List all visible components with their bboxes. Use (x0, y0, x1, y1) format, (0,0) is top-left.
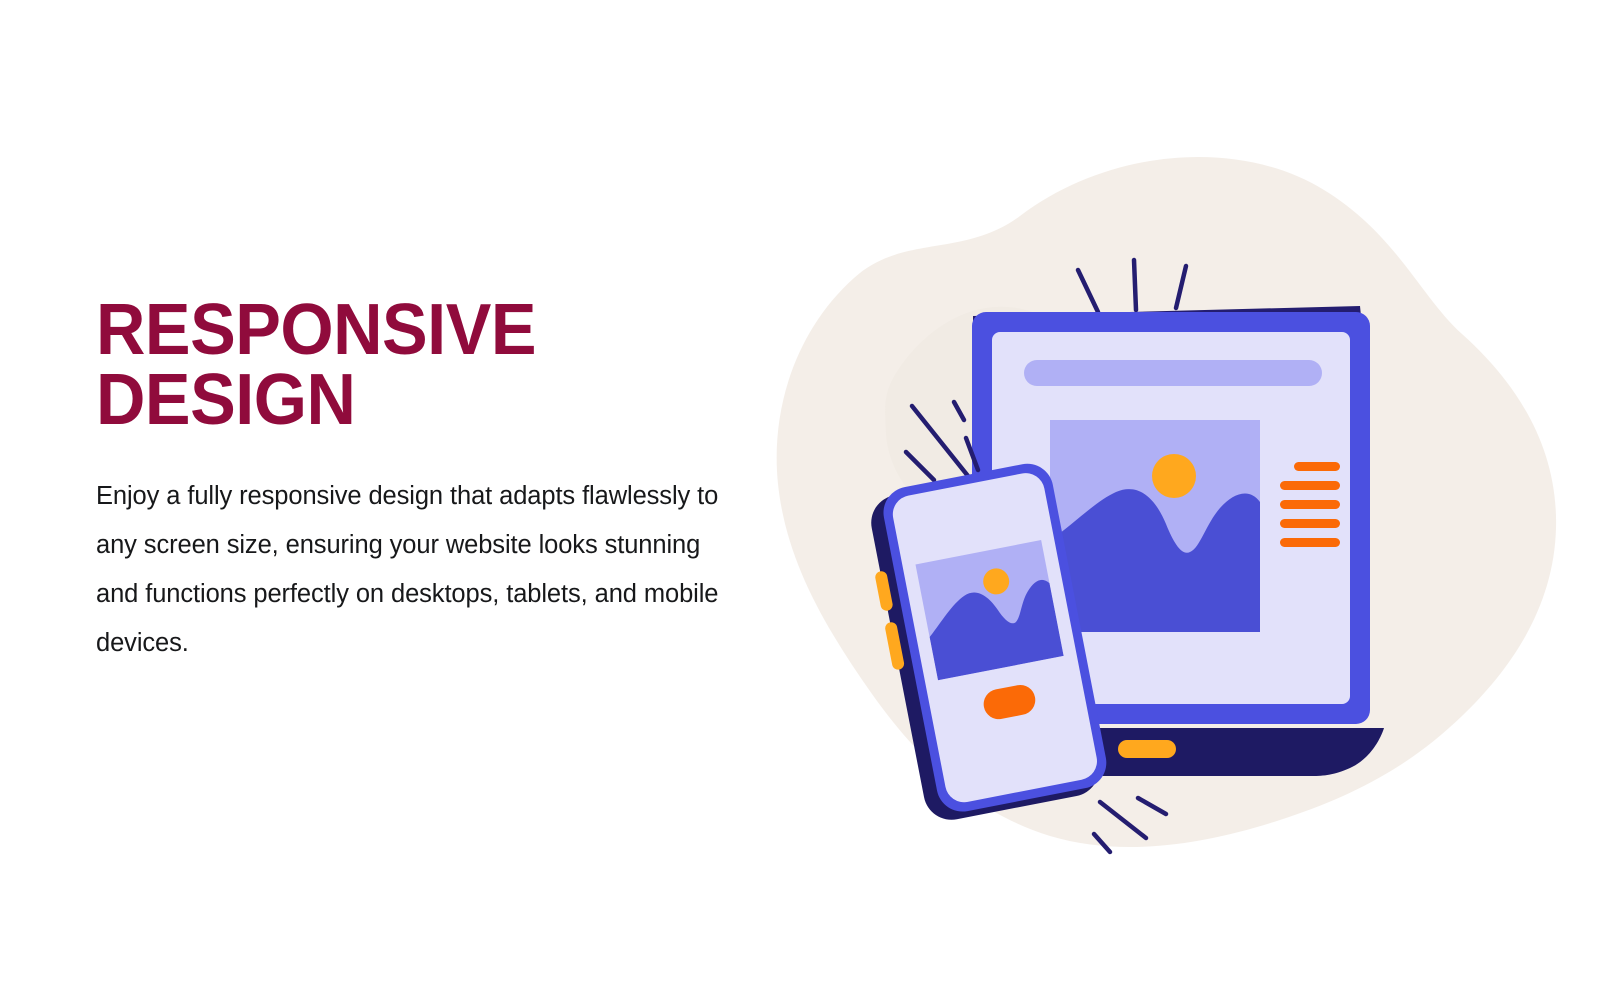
laptop-text-line-1 (1294, 462, 1340, 471)
laptop-image-placeholder (1050, 420, 1260, 632)
body-paragraph: Enjoy a fully responsive design that ada… (96, 436, 721, 669)
laptop-text-line-2 (1280, 481, 1340, 490)
page-title-line-2: Design (96, 366, 704, 436)
responsive-devices-illustration (720, 120, 1580, 880)
laptop-address-bar (1024, 360, 1322, 386)
laptop-trackpad (1118, 740, 1176, 758)
laptop-text-line-4 (1280, 519, 1340, 528)
laptop-sun-icon (1152, 454, 1196, 498)
text-column: ResponsiveDesign Enjoy a fully responsiv… (96, 296, 736, 668)
laptop-text-line-5 (1280, 538, 1340, 547)
page-title-line-1: Responsive (96, 290, 536, 370)
laptop-text-line-3 (1280, 500, 1340, 509)
page-title: ResponsiveDesign (96, 296, 704, 436)
slide-root: ResponsiveDesign Enjoy a fully responsiv… (0, 0, 1600, 1000)
phone-image-placeholder (915, 540, 1063, 680)
